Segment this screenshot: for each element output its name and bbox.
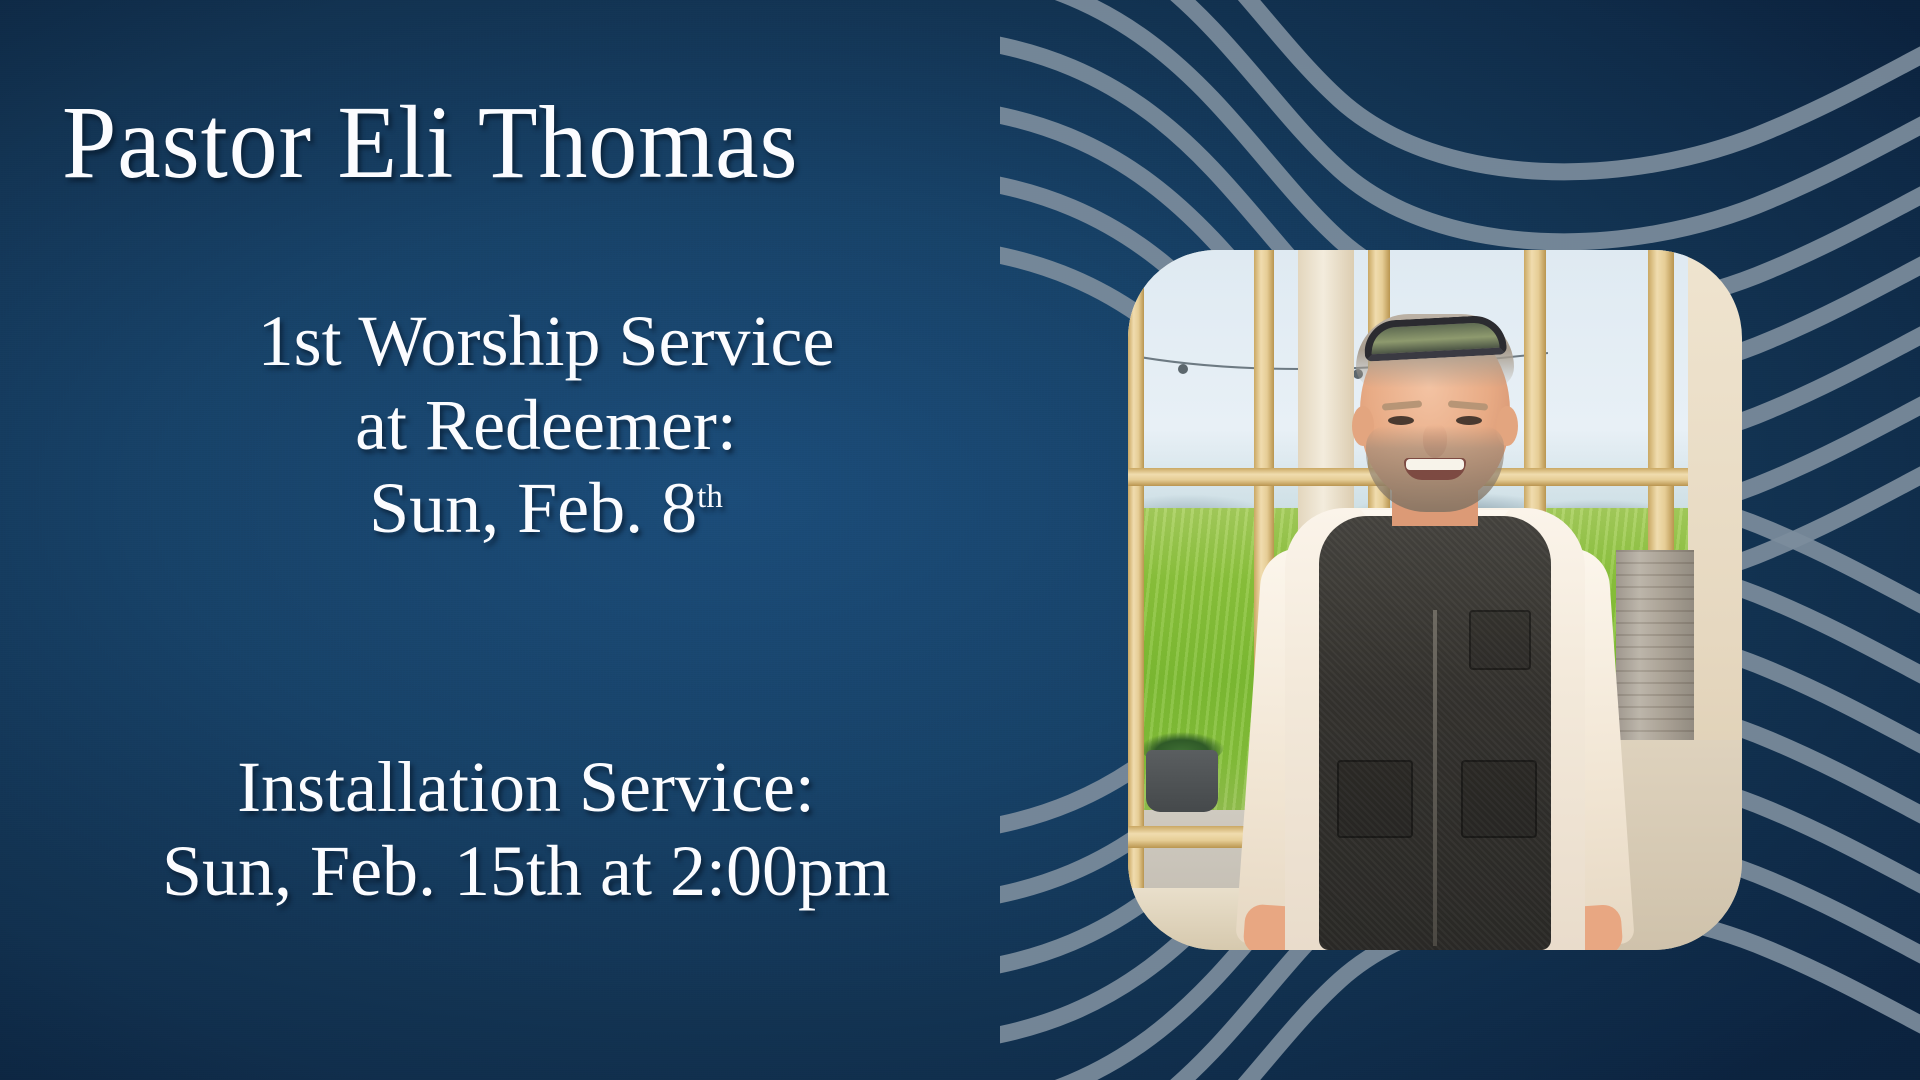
announcement-poster: Pastor Eli Thomas 1st Worship Service at… xyxy=(0,0,1920,1080)
installation-line-1: Installation Service: xyxy=(26,746,1026,830)
sunglasses-icon xyxy=(1363,314,1507,361)
pastor-figure xyxy=(1225,310,1645,950)
page-title: Pastor Eli Thomas xyxy=(62,88,798,197)
first-worship-announcement: 1st Worship Service at Redeemer: Sun, Fe… xyxy=(46,300,1046,551)
ordinal-suffix: th xyxy=(697,478,723,515)
installation-announcement: Installation Service: Sun, Feb. 15th at … xyxy=(26,746,1026,913)
pastor-photo xyxy=(1128,250,1742,950)
first-worship-line-1: 1st Worship Service xyxy=(46,300,1046,384)
installation-line-2: Sun, Feb. 15th at 2:00pm xyxy=(26,830,1026,914)
first-worship-line-2: at Redeemer: xyxy=(46,384,1046,468)
first-worship-date-text: Sun, Feb. 8 xyxy=(369,468,697,548)
first-worship-date: Sun, Feb. 8th xyxy=(46,467,1046,551)
